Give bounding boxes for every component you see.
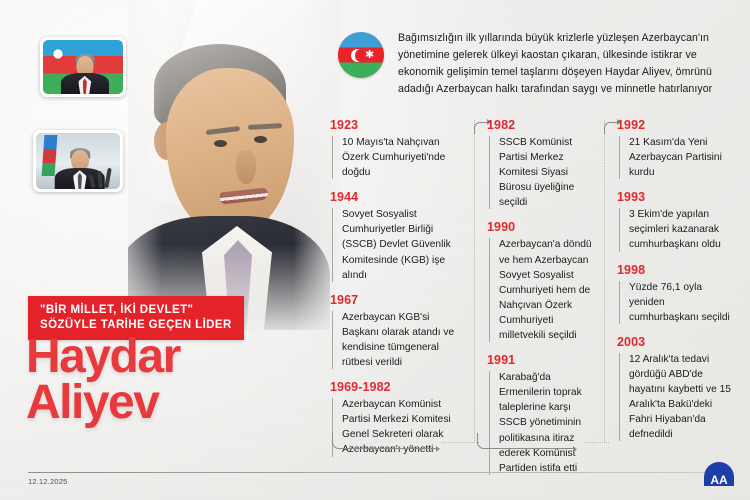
- photo-aliyev-podium: [33, 130, 123, 192]
- timeline-connector-dots: [442, 442, 479, 443]
- timeline-year: 1992: [617, 118, 732, 132]
- timeline-year: 2003: [617, 335, 732, 349]
- timeline-text: Karabağ'da Ermenilerin toprak taleplerin…: [487, 370, 597, 476]
- timeline-text: Azerbaycan KGB'si Başkanı olarak atandı …: [330, 310, 467, 370]
- timeline-text: Azerbaycan'a döndü ve hem Azerbaycan Sov…: [487, 237, 597, 343]
- title-line-2: Aliyev: [26, 380, 180, 426]
- timeline-year: 1944: [330, 190, 467, 204]
- timeline-text: 3 Ekim'de yapılan seçimleri kazanarak cu…: [617, 207, 732, 252]
- footer-divider: [28, 472, 708, 473]
- timeline-year: 1998: [617, 263, 732, 277]
- svg-text:AA: AA: [710, 473, 728, 487]
- timeline-connector-arrow: [332, 433, 436, 449]
- intro-paragraph: Bağımsızlığın ilk yıllarında büyük krizl…: [398, 30, 732, 99]
- timeline-year: 1993: [617, 190, 732, 204]
- timeline-connector-arrow: [604, 122, 617, 134]
- aa-logo: AA: [702, 462, 736, 488]
- timeline-entry: 1944 Sovyet Sosyalist Cumhuriyetler Birl…: [330, 190, 467, 282]
- timeline-entry: 1991 Karabağ'da Ermenilerin toprak talep…: [487, 353, 597, 476]
- timeline-column-1: 1923 10 Mayıs'ta Nahçıvan Özerk Cumhuriy…: [330, 118, 475, 453]
- timeline-connector-arrow: [474, 122, 487, 134]
- timeline-connector-arrow: [477, 433, 573, 449]
- timeline-entry: 1967 Azerbaycan KGB'si Başkanı olarak at…: [330, 293, 467, 370]
- timeline-entry: 1990 Azerbaycan'a döndü ve hem Azerbayca…: [487, 220, 597, 343]
- infographic-canvas: "BİR MİLLET, İKİ DEVLET" SÖZÜYLE TARİHE …: [0, 0, 750, 500]
- timeline-column-2: 1982 SSCB Komünist Partisi Merkez Komite…: [475, 118, 605, 453]
- timeline-year: 1969-1982: [330, 380, 467, 394]
- timeline-entry: 1993 3 Ekim'de yapılan seçimleri kazanar…: [617, 190, 732, 252]
- timeline-entry: 1982 SSCB Komünist Partisi Merkez Komite…: [487, 118, 597, 210]
- timeline-text: 12 Aralık'ta tedavi gördüğü ABD'de hayat…: [617, 352, 732, 443]
- timeline-entry: 1992 21 Kasım'da Yeni Azerbaycan Partisi…: [617, 118, 732, 180]
- title-line-1: Haydar: [26, 334, 180, 380]
- timeline-column-3: 1992 21 Kasım'da Yeni Azerbaycan Partisi…: [605, 118, 740, 453]
- banner-line-1: "BİR MİLLET, İKİ DEVLET": [40, 303, 232, 318]
- intro-block: ✱ Bağımsızlığın ilk yıllarında büyük kri…: [338, 30, 732, 99]
- timeline-year: 1991: [487, 353, 597, 367]
- page-title: Haydar Aliyev: [26, 334, 180, 426]
- timeline-year: 1923: [330, 118, 467, 132]
- timeline-year: 1990: [487, 220, 597, 234]
- timeline-entry: 1998 Yüzde 76,1 oyla yeniden cumhurbaşka…: [617, 263, 732, 325]
- azerbaijan-flag-icon: ✱: [338, 32, 384, 78]
- timeline-text: 21 Kasım'da Yeni Azerbaycan Partisini ku…: [617, 135, 732, 180]
- timeline-year: 1967: [330, 293, 467, 307]
- timeline-entry: 1923 10 Mayıs'ta Nahçıvan Özerk Cumhuriy…: [330, 118, 467, 180]
- timeline-year: 1982: [487, 118, 597, 132]
- photo-aliyev-flag: [40, 37, 126, 97]
- photo-aliyev-portrait: [128, 0, 340, 330]
- timeline-text: SSCB Komünist Partisi Merkez Komitesi Si…: [487, 135, 597, 210]
- timeline-entry: 2003 12 Aralık'ta tedavi gördüğü ABD'de …: [617, 335, 732, 443]
- timeline-text: 10 Mayıs'ta Nahçıvan Özerk Cumhuriyeti'n…: [330, 135, 467, 180]
- publish-date: 12.12.2025: [28, 477, 68, 486]
- timeline: 1923 10 Mayıs'ta Nahçıvan Özerk Cumhuriy…: [330, 118, 740, 453]
- timeline-text: Sovyet Sosyalist Cumhuriyetler Birliği (…: [330, 207, 467, 282]
- timeline-text: Yüzde 76,1 oyla yeniden cumhurbaşkanı se…: [617, 280, 732, 325]
